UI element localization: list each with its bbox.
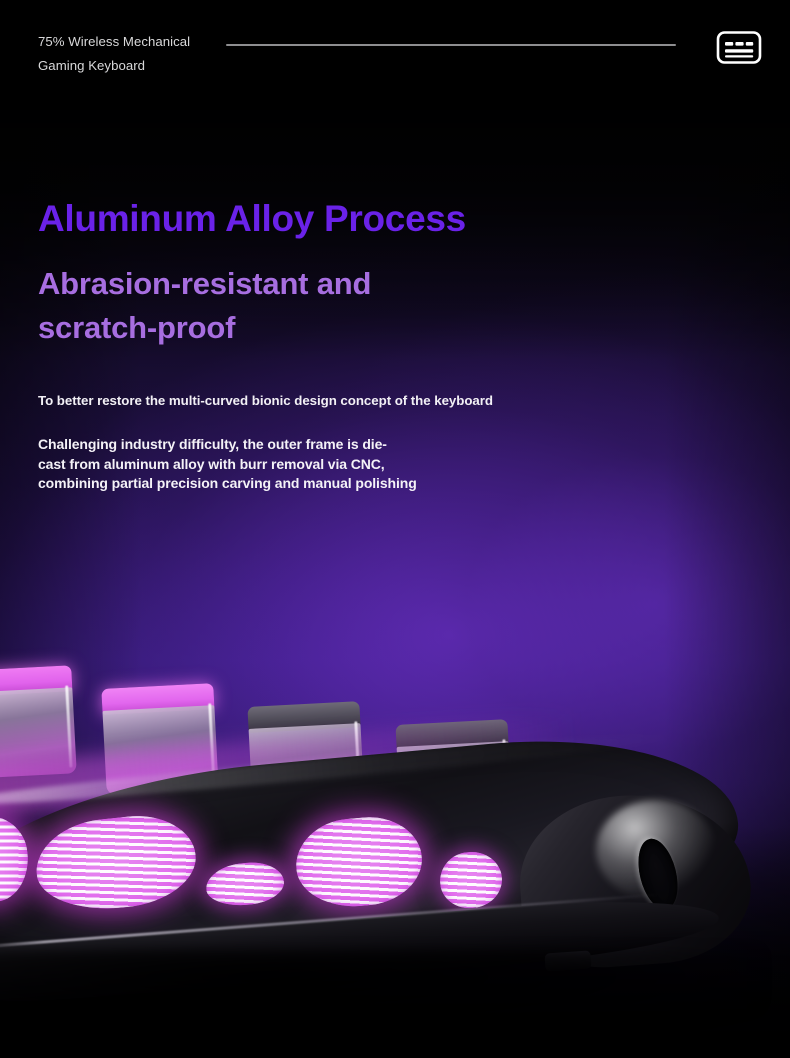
keyboard-icon (716, 30, 762, 65)
product-image (0, 620, 790, 1058)
product-name-label: 75% Wireless Mechanical Gaming Keyboard (38, 30, 228, 78)
frame-vent (32, 810, 201, 916)
body-paragraph: Challenging industry difficulty, the out… (38, 435, 417, 494)
header-divider (226, 44, 676, 46)
vent-rim (438, 849, 505, 910)
lead-paragraph: To better restore the multi-curved bioni… (38, 393, 493, 408)
page-title: Aluminum Alloy Process (38, 200, 466, 239)
vent-rim (204, 860, 285, 909)
product-feature-page: 75% Wireless Mechanical Gaming Keyboard … (0, 0, 790, 1058)
product-drop-shadow (0, 950, 760, 1040)
frame-vent (204, 860, 285, 909)
frame-vent (438, 849, 505, 910)
frame-vent (292, 813, 425, 912)
page-header: 75% Wireless Mechanical Gaming Keyboard (38, 30, 762, 86)
page-subtitle: Abrasion-resistant and scratch-proof (38, 262, 371, 350)
